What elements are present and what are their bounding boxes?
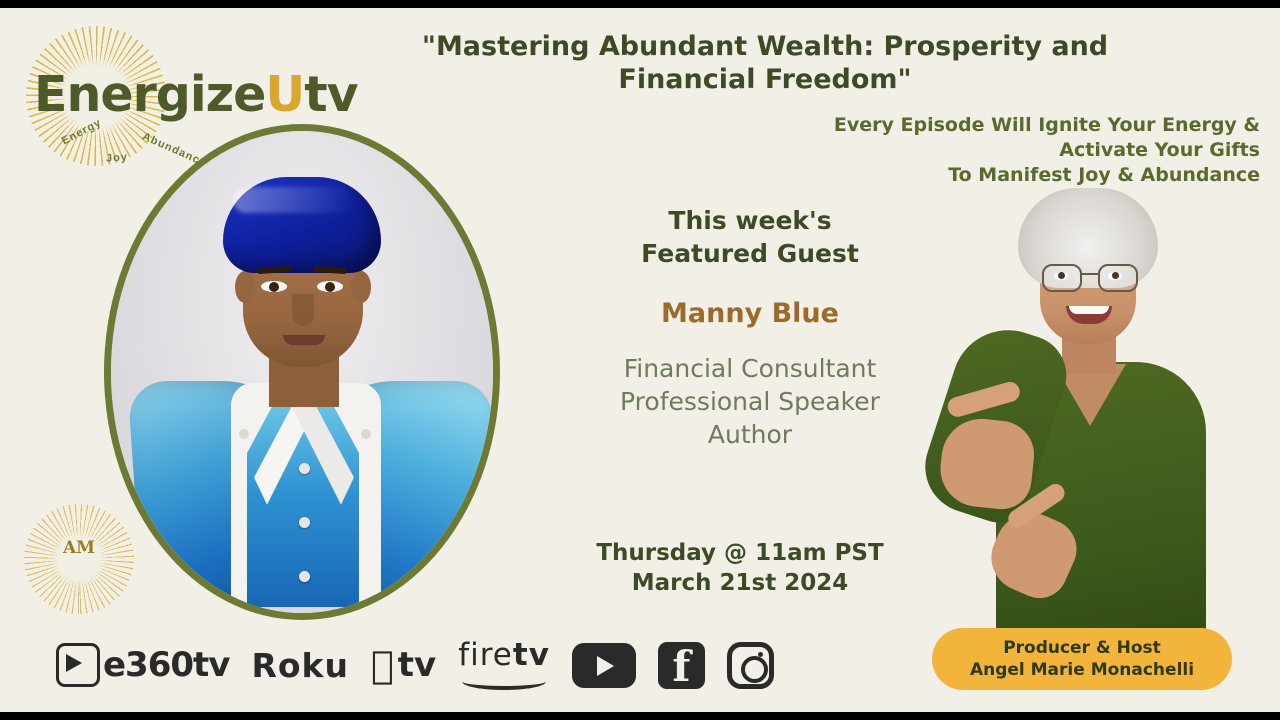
guest-mouth: [283, 335, 325, 345]
am-monogram: AM: [24, 504, 134, 614]
guest-role-1: Financial Consultant: [540, 352, 960, 385]
firetv-label-light: fire: [458, 637, 513, 673]
guest-nose: [292, 294, 314, 326]
platform-e360tv-label: e360tv: [103, 645, 229, 685]
roku-wordmark-icon: Roku: [251, 646, 349, 685]
guest-portrait: [104, 124, 500, 620]
host-arm: [913, 316, 1076, 531]
play-box-icon: [56, 643, 100, 687]
host-eye-left: [1054, 272, 1068, 280]
tagline-line-1: Every Episode Will Ignite Your Energy &: [560, 113, 1260, 138]
guest-role-2: Professional Speaker: [540, 385, 960, 418]
platform-appletv-label: tv: [398, 645, 436, 685]
guest-role-3: Author: [540, 418, 960, 451]
firetv-label-bold: tv: [513, 637, 550, 673]
tagline-energy: Energy: [60, 117, 104, 148]
promo-graphic: EnergizeUtv Energy Joy Abundance "Master…: [0, 8, 1280, 712]
show-tagline: Every Episode Will Ignite Your Energy & …: [560, 113, 1260, 188]
youtube-icon: [572, 643, 636, 688]
guest-eye-left: [261, 281, 287, 292]
platform-firetv-label: firetv: [458, 640, 550, 671]
logo-text-left: Energize: [34, 66, 265, 123]
host-eye-right: [1108, 272, 1122, 280]
platform-facebook[interactable]: f: [658, 642, 705, 689]
featured-line-1: This week's: [560, 204, 940, 237]
platform-youtube[interactable]: [572, 643, 636, 688]
apple-icon: : [371, 646, 394, 684]
guest-ear-left: [235, 271, 255, 303]
guest-stud-right: [361, 429, 371, 439]
platform-instagram[interactable]: [727, 642, 774, 689]
glasses-bridge: [1080, 273, 1098, 275]
guest-button-2: [299, 517, 310, 528]
host-badge-name: Angel Marie Monachelli: [970, 659, 1194, 681]
platform-e360tv[interactable]: e360tv: [56, 643, 229, 687]
episode-title: "Mastering Abundant Wealth: Prosperity a…: [370, 30, 1160, 96]
logo-text-u: U: [265, 66, 304, 123]
guest-ear-right: [351, 271, 371, 303]
host-badge-role: Producer & Host: [1003, 637, 1161, 659]
instagram-icon: [727, 642, 774, 689]
tagline-line-2: Activate Your Gifts: [560, 138, 1260, 163]
platform-bar: e360tv Roku  tv firetv f: [56, 634, 846, 696]
facebook-icon: f: [658, 642, 705, 689]
guest-button-3: [299, 571, 310, 582]
host-badge: Producer & Host Angel Marie Monachelli: [932, 628, 1232, 690]
logo-wordmark: EnergizeUtv: [34, 66, 358, 123]
featured-guest-label: This week's Featured Guest: [560, 204, 940, 270]
airtime-time: Thursday @ 11am PST: [540, 538, 940, 568]
platform-appletv[interactable]:  tv: [371, 645, 436, 685]
host-pointing-finger-upper: [945, 380, 1022, 420]
guest-stud-left: [239, 429, 249, 439]
host-hand-upper: [937, 415, 1038, 512]
airtime-date: March 21st 2024: [540, 568, 940, 598]
video-frame: EnergizeUtv Energy Joy Abundance "Master…: [0, 0, 1280, 720]
guest-button-1: [299, 463, 310, 474]
airtime-block: Thursday @ 11am PST March 21st 2024: [540, 538, 940, 598]
amazon-smile-icon: [462, 673, 546, 690]
am-monogram-text: AM: [56, 538, 102, 558]
guest-eye-right: [317, 281, 343, 292]
guest-credentials: Financial Consultant Professional Speake…: [540, 352, 960, 451]
guest-name: Manny Blue: [560, 298, 940, 329]
featured-line-2: Featured Guest: [560, 237, 940, 270]
host-portrait: [900, 178, 1260, 678]
fan-burst-icon: [24, 504, 134, 614]
logo-text-right: tv: [304, 66, 357, 123]
platform-roku[interactable]: Roku: [251, 646, 349, 685]
platform-firetv[interactable]: firetv: [458, 640, 550, 690]
guest-hair: [223, 177, 381, 273]
